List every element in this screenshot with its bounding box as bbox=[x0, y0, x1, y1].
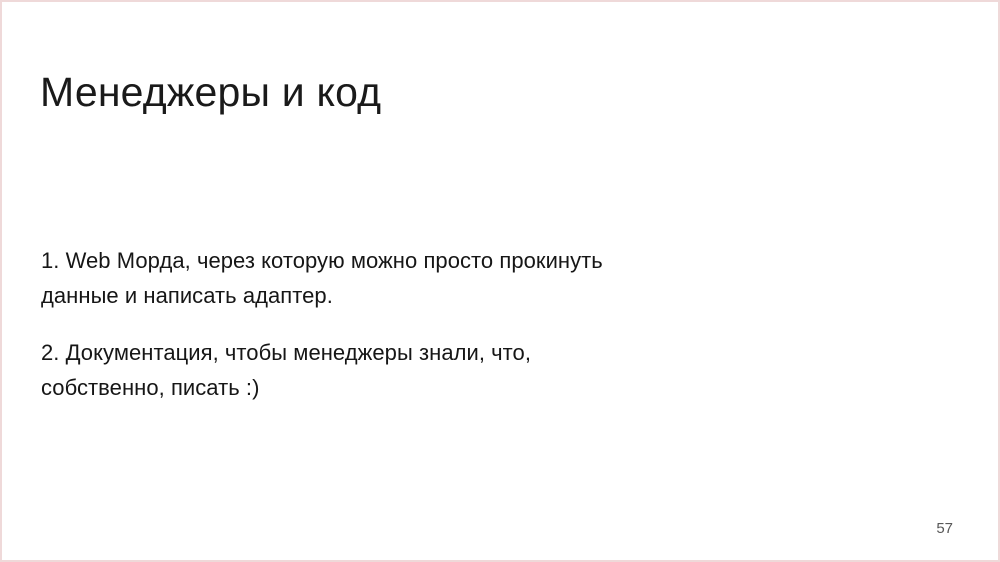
presentation-slide: Менеджеры и код 1. Web Морда, через кото… bbox=[0, 0, 1000, 562]
page-number: 57 bbox=[936, 520, 953, 538]
body-paragraph-2: 2. Документация, чтобы менеджеры знали, … bbox=[41, 335, 781, 405]
body-paragraph-1: 1. Web Морда, через которую можно просто… bbox=[41, 243, 781, 313]
body-paragraph-1-line-2: данные и написать адаптер. bbox=[41, 278, 781, 313]
body-paragraph-2-line-1: 2. Документация, чтобы менеджеры знали, … bbox=[41, 335, 781, 370]
body-paragraph-1-line-1: 1. Web Морда, через которую можно просто… bbox=[41, 243, 781, 278]
slide-body-content: 1. Web Морда, через которую можно просто… bbox=[41, 243, 781, 405]
body-paragraph-2-line-2: собственно, писать :) bbox=[41, 370, 781, 405]
page-title: Менеджеры и код bbox=[40, 67, 381, 117]
